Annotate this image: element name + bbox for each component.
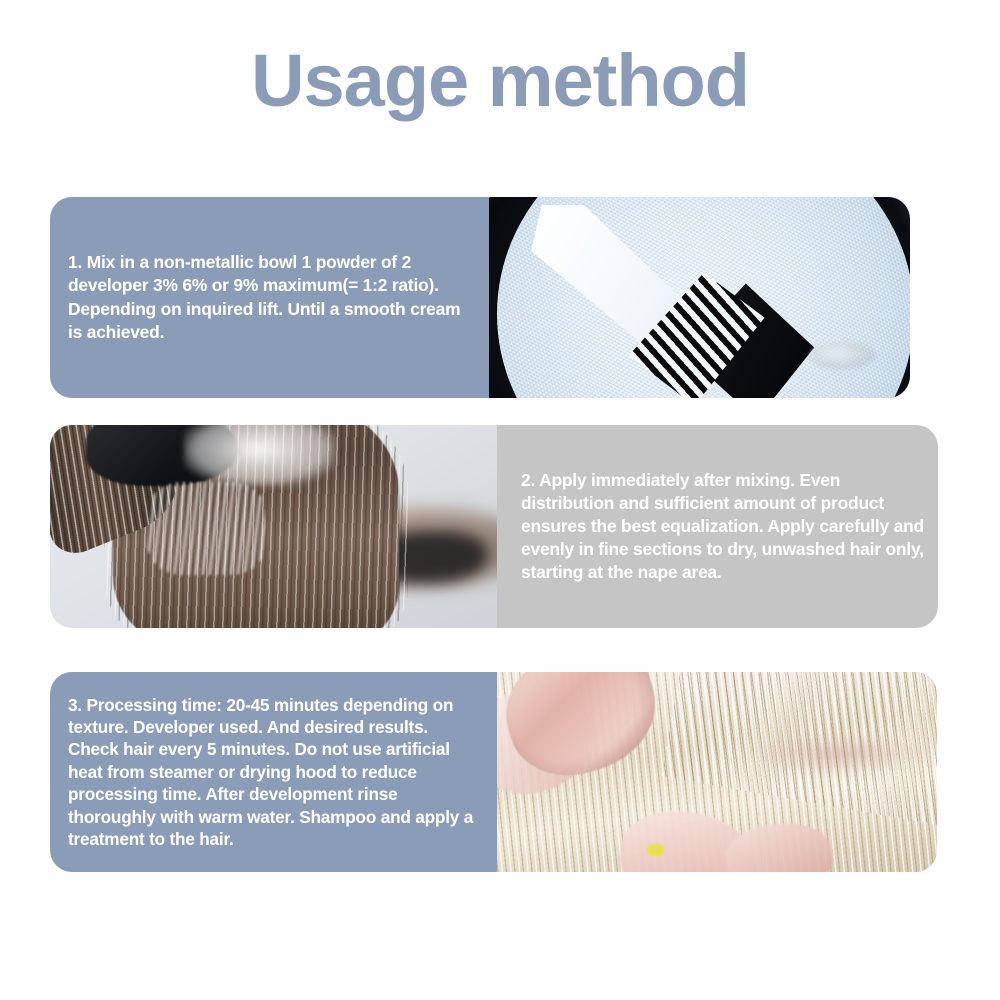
step-2-panel: 2. Apply immediately after mixing. Even … xyxy=(50,425,938,628)
page-title: Usage method xyxy=(0,42,1000,120)
photo1-bowl-highlight xyxy=(809,342,876,370)
photo3-scalp-area xyxy=(752,732,928,776)
step-2-photo-hair-colour-application xyxy=(50,425,497,628)
step-3-text-block: 3. Processing time: 20-45 minutes depend… xyxy=(50,672,497,872)
step-1-photo-bleach-powder-bowl xyxy=(489,197,910,398)
step-3-text: 3. Processing time: 20-45 minutes depend… xyxy=(68,694,483,851)
step-3-panel: 3. Processing time: 20-45 minutes depend… xyxy=(50,672,937,872)
step-2-text-block: 2. Apply immediately after mixing. Even … xyxy=(497,425,938,628)
step-1-panel: 1. Mix in a non-metallic bowl 1 powder o… xyxy=(50,197,910,398)
photo2-colour-cream-strands xyxy=(148,482,264,575)
photo2-colour-cream-top xyxy=(184,425,336,486)
step-2-text: 2. Apply immediately after mixing. Even … xyxy=(521,469,930,585)
step-3-photo-bleached-blonde-hair xyxy=(497,672,937,872)
step-1-text: 1. Mix in a non-metallic bowl 1 powder o… xyxy=(68,251,475,344)
step-1-text-block: 1. Mix in a non-metallic bowl 1 powder o… xyxy=(50,197,489,398)
photo3-yellow-detail xyxy=(647,844,665,856)
usage-method-page: Usage method 1. Mix in a non-metallic bo… xyxy=(0,0,1000,1000)
